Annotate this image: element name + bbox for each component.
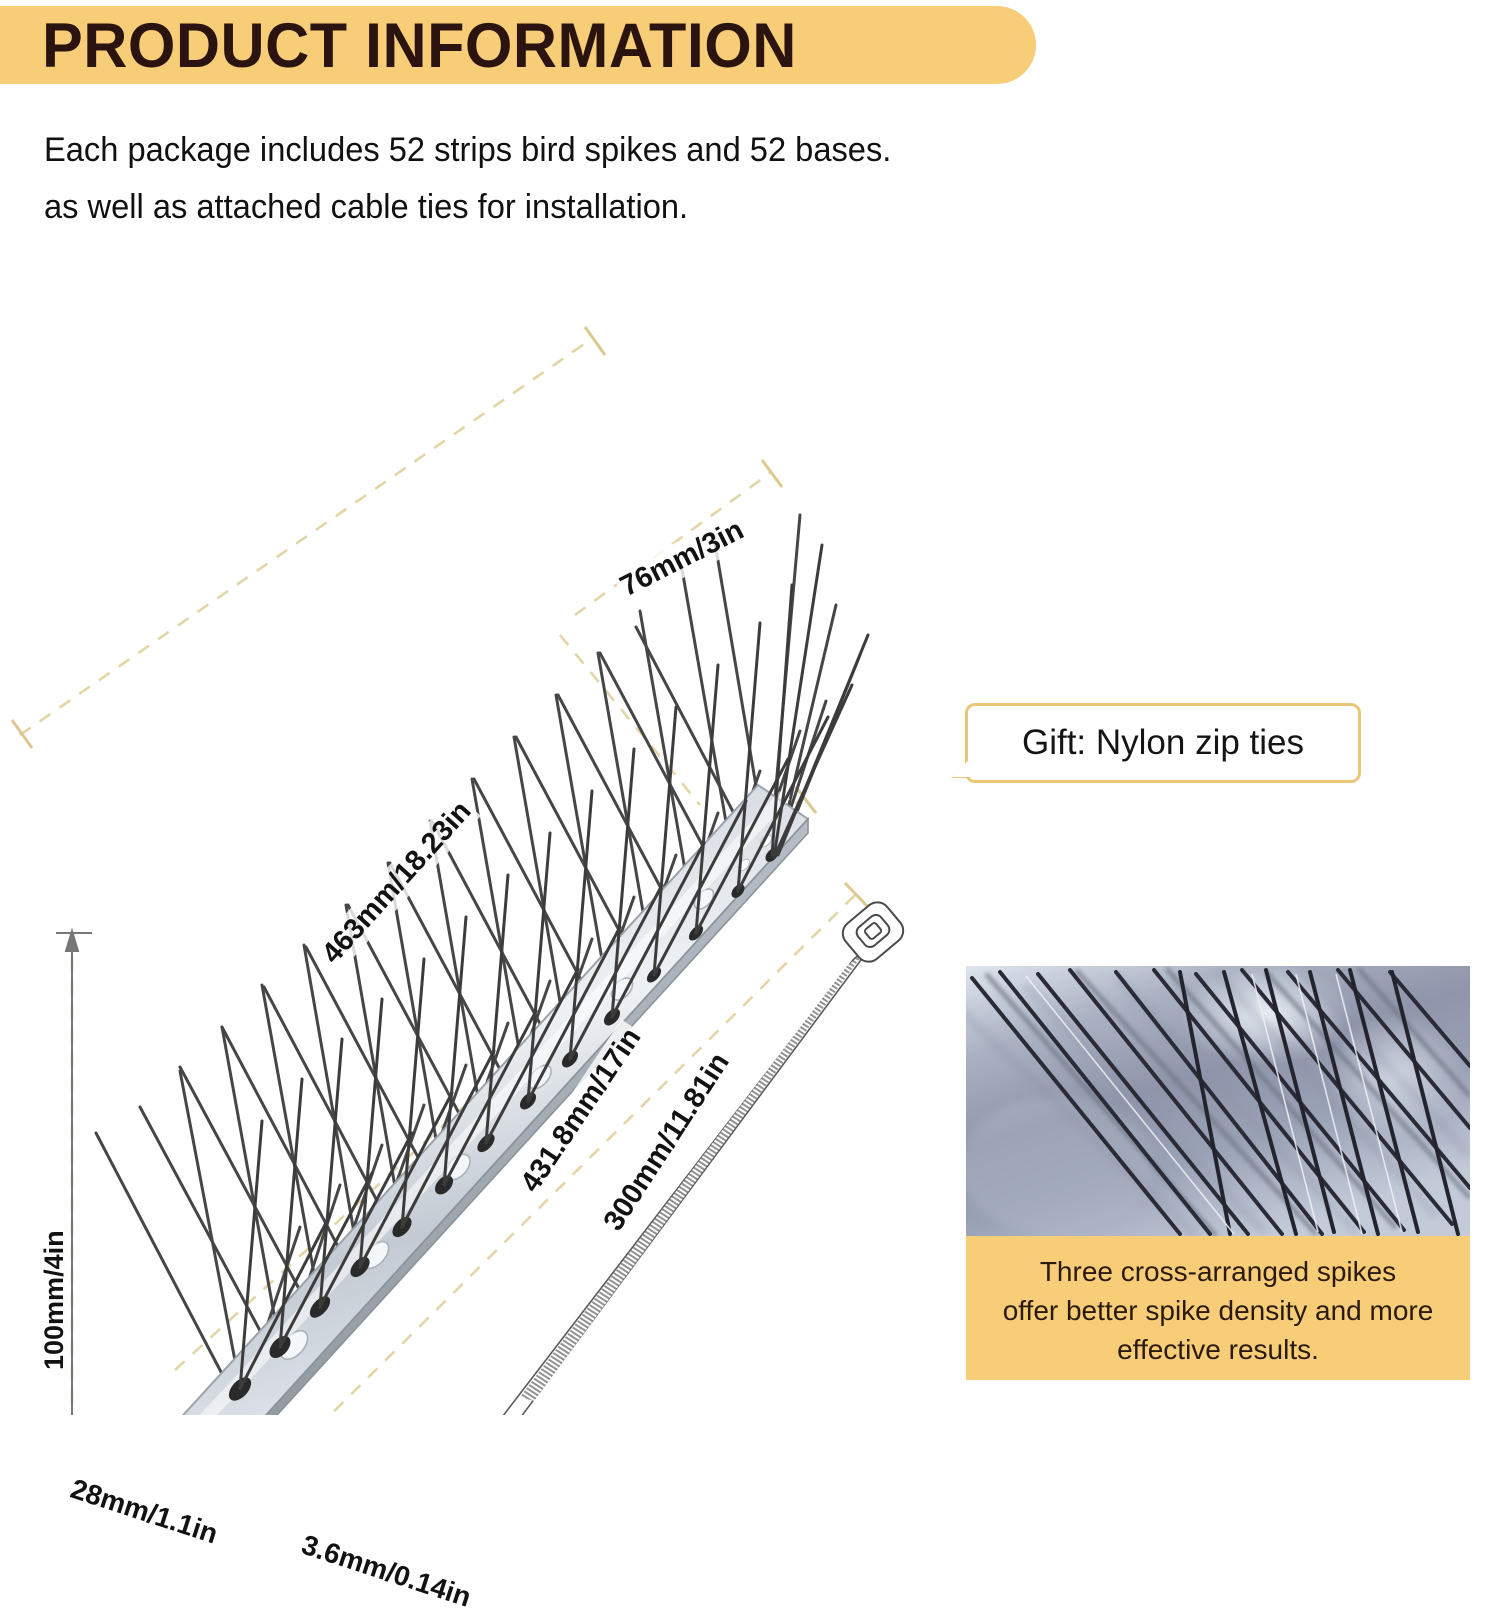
photo-caption-line-1: Three cross-arranged spikes xyxy=(988,1252,1448,1291)
page-title: PRODUCT INFORMATION xyxy=(42,8,797,84)
photo-panel: Three cross-arranged spikes offer better… xyxy=(966,966,1470,1380)
dimension-label-base-width: 28mm/1.1in xyxy=(63,1471,224,1552)
header-banner: PRODUCT INFORMATION xyxy=(0,6,1036,84)
spike-closeup-illustration xyxy=(966,966,1470,1236)
photo-caption-line-3: effective results. xyxy=(988,1330,1448,1369)
intro-line-1: Each package includes 52 strips bird spi… xyxy=(44,122,1023,179)
gift-callout-label: Gift: Nylon zip ties xyxy=(968,723,1358,763)
photo-caption: Three cross-arranged spikes offer better… xyxy=(966,1236,1470,1380)
callout-tail xyxy=(952,758,971,777)
dimension-label-spike-height: 100mm/4in xyxy=(38,1227,71,1373)
dimension-label-base-thickness: 3.6mm/0.14in xyxy=(294,1527,477,1616)
spike-closeup-photo xyxy=(966,966,1470,1236)
product-diagram: 76mm/3in 463mm/18.23in 431.8mm/17in 300m… xyxy=(0,215,960,1415)
photo-caption-line-2: offer better spike density and more xyxy=(988,1291,1448,1330)
gift-callout-box: Gift: Nylon zip ties xyxy=(965,703,1361,783)
spike-wires-back xyxy=(96,515,860,1393)
